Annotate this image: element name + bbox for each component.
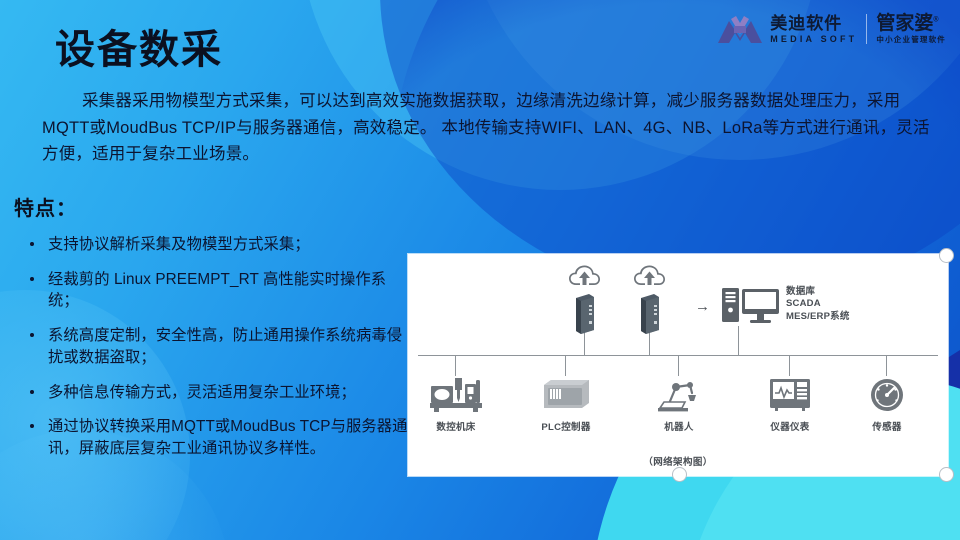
logo-registered-mark: ® [933,17,938,24]
logo-product-sub: 中小企业管理软件 [876,36,946,44]
robot-arm-icon [652,376,706,414]
service-label: MES/ERP系统 [786,311,850,323]
gateway-device-icon [637,292,663,334]
node-label: 数控机床 [420,419,492,433]
panel-corner-handle-bottom-center [672,467,687,482]
drop-instrument-meter [789,355,790,376]
features-list: 支持协议解析采集及物模型方式采集； 经裁剪的 Linux PREEMPT_RT … [14,234,414,473]
list-item: 支持协议解析采集及物模型方式采集； [14,234,414,256]
service-stack-labels: 数据库 SCADA MES/ERP系统 [786,286,850,323]
node-robot-arm: 机器人 [643,376,715,433]
logo-brand-en: MEDIA SOFT [770,35,857,44]
node-sensor: 传感器 [851,376,923,433]
node-plc-controller: PLC控制器 [530,376,602,433]
server-and-monitor-icon [721,286,781,326]
drop-sensor [886,355,887,376]
node-label: PLC控制器 [530,419,602,433]
list-item: 通过协议转换采用MQTT或MoudBus TCP与服务器通讯，屏蔽底层复杂工业通… [14,416,414,459]
brand-logo: 美迪软件 MEDIA SOFT 管家婆® 中小企业管理软件 [718,8,946,50]
logo-product-cn-text: 管家婆 [876,13,933,34]
service-label: SCADA [786,298,850,310]
riser-server [738,326,739,356]
logo-product-cn: 管家婆® [876,14,938,33]
riser-gateway-1 [584,332,585,356]
riser-gateway-2 [649,332,650,356]
list-item: 经裁剪的 Linux PREEMPT_RT 高性能实时操作系统； [14,269,414,312]
gateway-device-icon [572,292,598,334]
flow-arrow-icon: → [695,299,710,314]
sensor-gauge-icon [860,376,914,414]
features-heading: 特点： [14,192,77,221]
service-label: 数据库 [786,286,850,298]
diagram-caption: （网络架构图） [408,454,948,468]
cloud-upload-icon [568,264,601,288]
list-item: 系统高度定制，安全性高，防止通用操作系统病毒侵扰或数据盗取； [14,325,414,368]
cloud-upload-icon [633,264,666,288]
node-label: 传感器 [851,419,923,433]
drop-plc-controller [565,355,566,376]
page-title: 设备数采 [55,30,223,70]
cnc-machine-icon [429,376,483,414]
media-soft-m-mark-icon [718,14,762,44]
drop-robot-arm [678,355,679,376]
intro-paragraph: 采集器采用物模型方式采集，可以达到高效实施数据获取，边缘清洗边缘计算，减少服务器… [42,88,932,168]
node-instrument-meter: 仪器仪表 [754,376,826,433]
node-label: 仪器仪表 [754,419,826,433]
network-architecture-diagram: → 数据库 SCADA MES/ERP系统 [408,254,948,476]
logo-divider [866,14,867,44]
drop-cnc-machine [455,355,456,376]
instrument-meter-icon [763,376,817,414]
slide-root: 美迪软件 MEDIA SOFT 管家婆® 中小企业管理软件 设备数采 采集器采用… [0,0,960,540]
node-label: 机器人 [643,419,715,433]
list-item: 多种信息传输方式，灵活适用复杂工业环境； [14,382,414,404]
logo-brand-cn: 美迪软件 [770,15,842,32]
panel-corner-handle-bottom-right [939,467,954,482]
node-cnc-machine: 数控机床 [420,376,492,433]
plc-controller-icon [539,376,593,414]
panel-corner-handle-top-right [939,248,954,263]
